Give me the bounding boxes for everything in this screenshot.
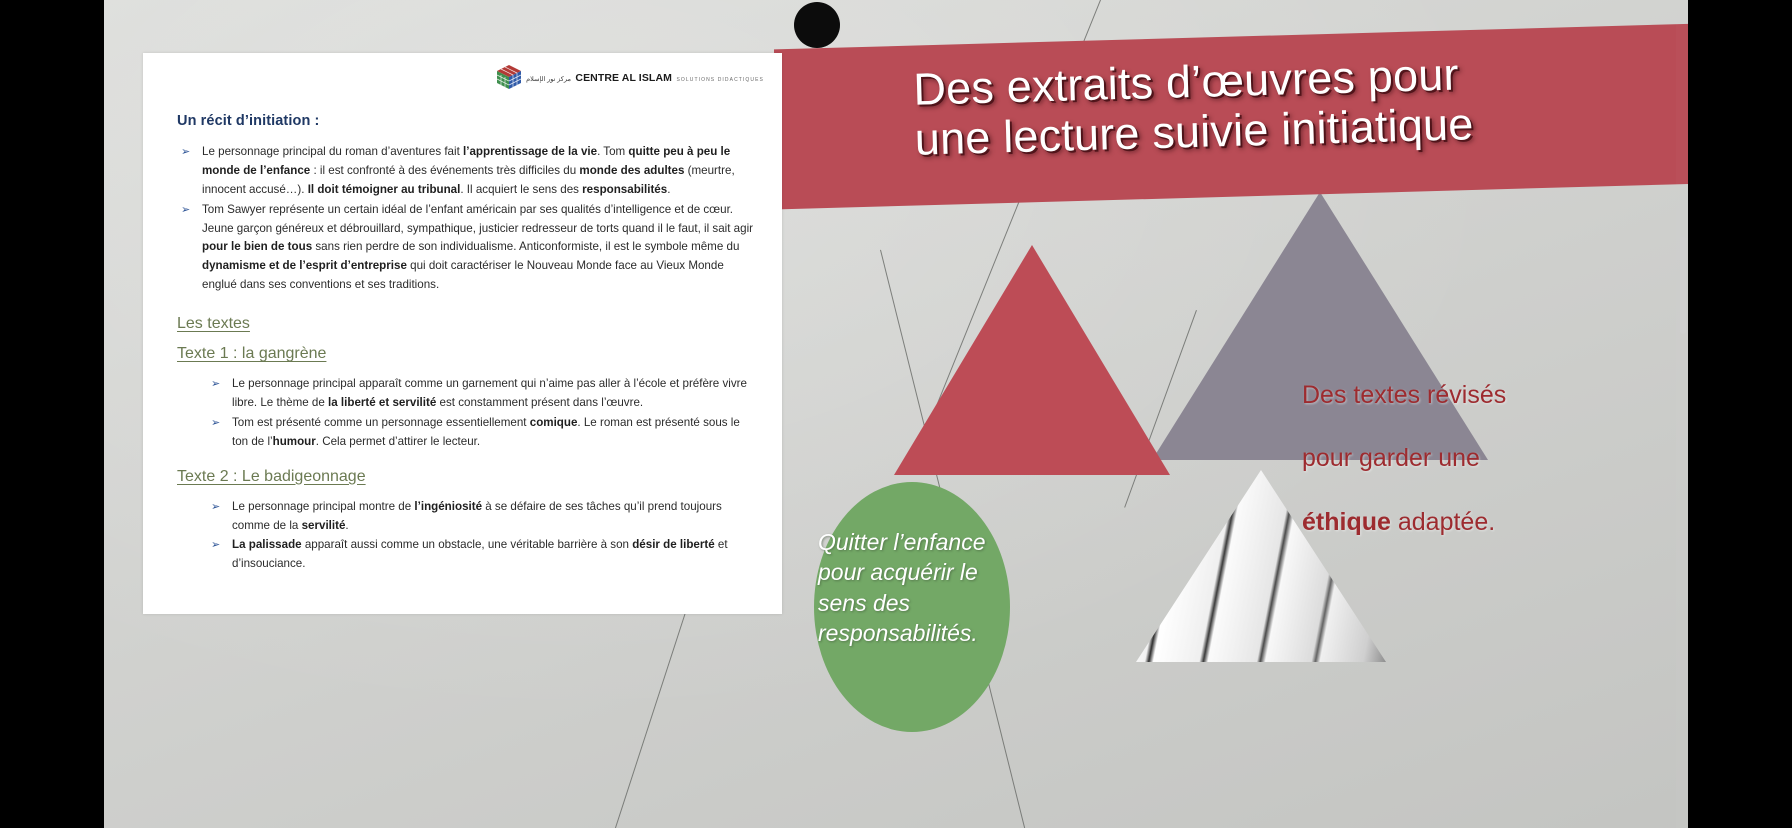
list-item: ➢La palissade apparaît aussi comme un ob…	[207, 536, 756, 574]
heading-un-recit: Un récit d’initiation :	[177, 113, 756, 129]
emphasis-text: comique	[530, 416, 578, 429]
purple-line-1: Des textes révisés	[1302, 381, 1506, 409]
document-page[interactable]: مركز نور الإسلام CENTRE AL ISLAM SOLUTIO…	[143, 53, 782, 614]
body-text: . Tom	[597, 145, 628, 158]
document-body: Un récit d’initiation : ➢Le personnage p…	[177, 113, 756, 575]
body-text: .	[667, 183, 670, 196]
body-text: Tom est présenté comme un personnage ess…	[232, 416, 530, 429]
texte1-bullet-list: ➢Le personnage principal apparaît comme …	[177, 375, 756, 452]
purple-callout-text: Des textes révisés pour garder une éthiq…	[1302, 348, 1552, 539]
list-item: ➢Le personnage principal apparaît comme …	[207, 375, 756, 413]
letterbox-left	[0, 0, 104, 828]
logo-text: مركز نور الإسلام CENTRE AL ISLAM SOLUTIO…	[526, 69, 764, 85]
emphasis-text: tribunal	[418, 183, 461, 196]
purple-bold-word: éthique	[1302, 508, 1391, 536]
bullet-arrow-icon: ➢	[211, 415, 220, 433]
logo-subtitle-text: SOLUTIONS DIDACTIQUES	[676, 77, 764, 83]
vertical-scrollbar-thumb[interactable]	[1680, 236, 1686, 334]
emphasis-text: La palissade	[232, 538, 302, 551]
body-text: est constamment présent dans l’œuvre.	[436, 396, 643, 409]
body-text: apparaît aussi comme un obstacle, une vé…	[302, 538, 633, 551]
emphasis-text: humour	[273, 435, 316, 448]
bullet-arrow-icon: ➢	[211, 537, 220, 555]
emphasis-text: servilité	[302, 519, 346, 532]
emphasis-text: la liberté et servilité	[328, 396, 436, 409]
bullet-arrow-icon: ➢	[181, 144, 190, 162]
cube-logo-icon	[496, 64, 522, 90]
body-text: Le personnage principal du roman d’avent…	[202, 145, 463, 158]
heading-les-textes: Les textes	[177, 315, 756, 333]
intro-bullet-list: ➢Le personnage principal du roman d’aven…	[177, 143, 756, 295]
body-text: Le personnage principal montre de	[232, 500, 414, 513]
purple-line-3: adaptée.	[1391, 508, 1495, 536]
list-item: ➢Tom est présenté comme un personnage es…	[207, 414, 756, 452]
body-text: sans rien perdre de son individualisme. …	[312, 240, 739, 253]
heading-texte-2: Texte 2 : Le badigeonnage	[177, 468, 756, 486]
viewport: Des extraits d’œuvres pour une lecture s…	[0, 0, 1792, 828]
body-text: . Cela permet d’attirer le lecteur.	[316, 435, 480, 448]
emphasis-text: l’apprentissage de la vie	[463, 145, 597, 158]
list-item: ➢Le personnage principal du roman d’aven…	[177, 143, 756, 200]
red-triangle	[894, 245, 1170, 475]
emphasis-text: l’ingéniosité	[414, 500, 482, 513]
emphasis-text: Il doit témoigner au	[308, 183, 418, 196]
slide-title: Des extraits d’œuvres pour une lecture s…	[913, 45, 1616, 165]
emphasis-text: désir de liberté	[632, 538, 714, 551]
list-item: ➢Tom Sawyer représente un certain idéal …	[177, 201, 756, 295]
emphasis-text: monde des adultes	[579, 164, 684, 177]
body-text: .	[345, 519, 348, 532]
letterbox-right	[1688, 0, 1792, 828]
list-item: ➢Le personnage principal montre de l’ing…	[207, 498, 756, 536]
emphasis-text: pour le bien de tous	[202, 240, 312, 253]
logo: مركز نور الإسلام CENTRE AL ISLAM SOLUTIO…	[496, 64, 764, 90]
heading-texte-1: Texte 1 : la gangrène	[177, 345, 756, 363]
purple-line-2: pour garder une	[1302, 444, 1480, 472]
bullet-arrow-icon: ➢	[211, 499, 220, 517]
hairline-4	[615, 600, 690, 828]
bullet-arrow-icon: ➢	[181, 202, 190, 220]
emphasis-text: dynamisme et de l’esprit d’entreprise	[202, 259, 407, 272]
black-circle-icon	[794, 2, 840, 48]
body-text: . Il acquiert le sens des	[460, 183, 582, 196]
texte2-bullet-list: ➢Le personnage principal montre de l’ing…	[177, 498, 756, 575]
body-text: : il est confronté à des événements très…	[310, 164, 579, 177]
presentation-slide[interactable]: Des extraits d’œuvres pour une lecture s…	[104, 0, 1688, 828]
logo-name-text: CENTRE AL ISLAM	[575, 72, 672, 84]
bullet-arrow-icon: ➢	[211, 376, 220, 394]
vertical-scrollbar-track[interactable]	[1676, 0, 1688, 828]
body-text: Tom Sawyer représente un certain idéal d…	[202, 203, 753, 235]
emphasis-text: responsabilités	[582, 183, 667, 196]
logo-arabic-text: مركز نور الإسلام	[526, 76, 571, 83]
green-callout-text: Quitter l’enfance pour acquérir le sens …	[818, 527, 1008, 648]
